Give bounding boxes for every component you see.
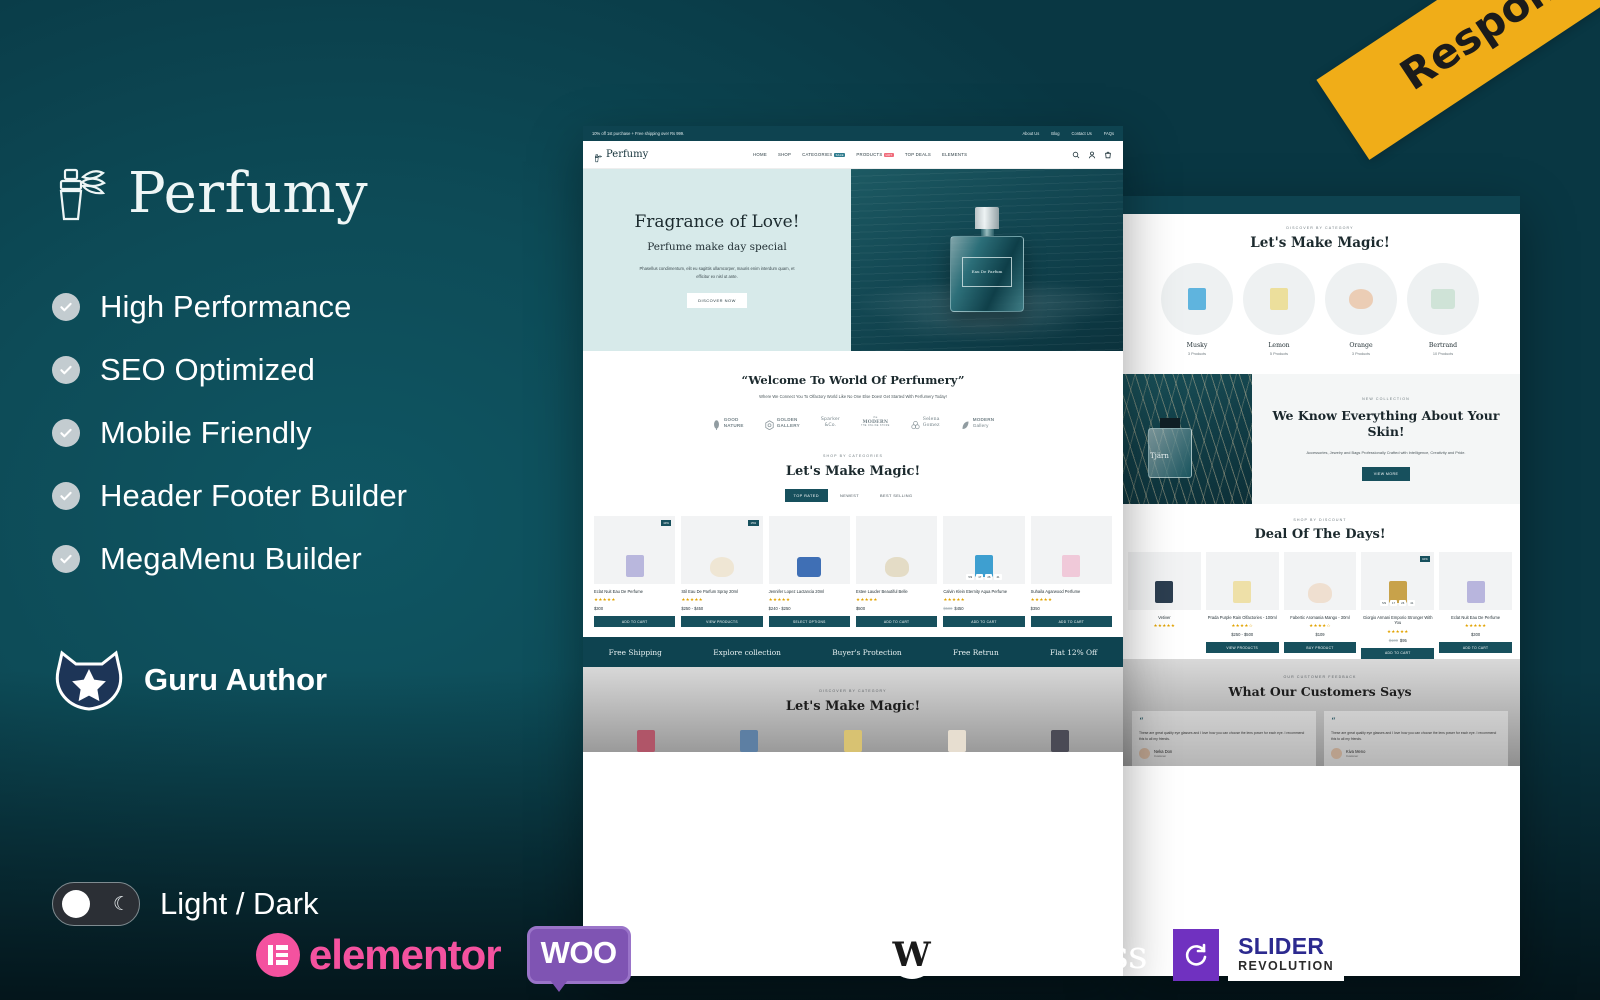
category-name: Lemon: [1243, 342, 1315, 349]
countdown-unit: 41: [1408, 600, 1415, 606]
product-card[interactable]: Prada Purple Rain Olfactories - 100ml ★★…: [1206, 552, 1279, 659]
hero-paragraph: Phasellus condimentum, elit eu sagittis …: [637, 265, 797, 281]
check-icon: [52, 545, 80, 573]
theme-toggle-row: ☾ Light / Dark: [52, 882, 319, 926]
benefit-buyers-protection: Buyer's Protection: [832, 648, 901, 657]
product-action-button[interactable]: ADD TO CART: [1361, 648, 1434, 659]
rating-stars: ★★★★☆: [1284, 623, 1357, 629]
product-card[interactable]: Jennifer Lopez Lactancia 20ml ★★★★★ $240…: [769, 516, 850, 627]
perfume-bottle-icon: [1270, 288, 1288, 310]
brand-logo-row: GOODNATURE GOLDENGALLERY Sparker&Co. the…: [583, 417, 1123, 428]
product-thumb: 10%: [594, 516, 675, 584]
elementor-logo-text: elementor: [309, 931, 501, 979]
slider-revolution-icon: [1173, 929, 1219, 981]
author-role: Customer: [1346, 754, 1365, 758]
shop-categories-section: SHOP BY CATEGORIES Let's Make Magic! TOP…: [583, 442, 1123, 508]
product-action-button[interactable]: ADD TO CART: [1031, 616, 1112, 627]
check-icon: [52, 482, 80, 510]
site-logo-text: Perfumy: [606, 149, 648, 160]
product-thumb: 5/9 17 26 41: [943, 516, 1024, 584]
bottom-discover-section: DISCOVER BY CATEGORY Let's Make Magic!: [583, 667, 1123, 752]
brand-logo: Sparker&Co.: [821, 417, 840, 428]
product-name: Eclat Nuit Eau De Perfume: [594, 589, 675, 594]
countdown-timer: 5/9 17 26 41: [1361, 600, 1434, 606]
current-price: $95: [1400, 638, 1407, 643]
menu-item-top-deals[interactable]: TOP DEALS: [905, 152, 931, 157]
menu-item-products[interactable]: PRODUCTSHOT: [856, 152, 893, 157]
wordpress-icon: W: [888, 931, 936, 979]
banner-eyebrow: NEW COLLECTION: [1362, 397, 1410, 401]
brand-logo-line1: GOLDEN: [777, 417, 800, 422]
testimonial-author: Kiva Meno Customer: [1331, 748, 1501, 759]
brand-logo-line1: Sparker: [821, 417, 840, 422]
cart-icon[interactable]: [1104, 151, 1112, 159]
product-name: Jennifer Lopez Lactancia 20ml: [769, 589, 850, 594]
discover-now-button[interactable]: DISCOVER NOW: [687, 293, 747, 308]
category-name: Orange: [1325, 342, 1397, 349]
responsive-ribbon-label: Responsive: [1391, 0, 1600, 99]
info-panel: Perfumy High Performance SEO Optimized M…: [52, 165, 552, 711]
perfume-bottle-icon: [740, 730, 758, 752]
menu-item-home[interactable]: HOME: [753, 152, 767, 157]
deals-section: SHOP BY DISCOUNT Deal Of The Days! Vetiv…: [1120, 504, 1520, 659]
section-eyebrow: DISCOVER BY CATEGORY: [583, 689, 1123, 693]
testimonial-list: “ These are great quality eye glasses an…: [1120, 699, 1520, 767]
section-eyebrow: SHOP BY DISCOUNT: [1120, 518, 1520, 522]
product-name: Prada Purple Rain Olfactories - 100ml: [1206, 615, 1279, 620]
product-thumb: [856, 516, 937, 584]
guru-author-label: Guru Author: [144, 662, 327, 698]
product-card[interactable]: 10% Eclat Nuit Eau De Perfume ★★★★★ $300…: [594, 516, 675, 627]
brand-logo-line1: Selena: [923, 417, 940, 422]
elementor-icon: [256, 933, 300, 977]
product-thumb: [1439, 552, 1512, 610]
navbar-icons: [1072, 151, 1112, 159]
product-thumb: [1128, 552, 1201, 610]
category-thumb: [1325, 263, 1397, 335]
site-logo[interactable]: Perfumy: [594, 149, 648, 160]
product-price: $250 - $450: [681, 606, 762, 611]
main-menu: HOME SHOP CATEGORIESSALE PRODUCTSHOT TOP…: [753, 152, 967, 157]
product-card[interactable]: Suhaila Agarwood Perfume ★★★★★ $350 ADD …: [1031, 516, 1112, 627]
woocommerce-logo-text: COMMERCE: [640, 934, 862, 977]
category-count: 3 Products: [1161, 352, 1233, 356]
woocommerce-logo: WOO COMMERCE: [527, 926, 862, 984]
category-thumb: [1407, 263, 1479, 335]
benefit-explore-collection: Explore collection: [713, 648, 781, 657]
brand-logo-line2: GALLERY: [777, 423, 800, 428]
banner-image: Tjärn: [1120, 374, 1252, 504]
testimonial-author: Neka Don Customer: [1139, 748, 1309, 759]
feature-label: High Performance: [100, 289, 351, 325]
countdown-unit: 26: [1399, 600, 1406, 606]
hexagon-icon: [765, 417, 774, 428]
brand-logo-line2: Gomez: [923, 423, 940, 428]
tab-best-selling[interactable]: BEST SELLING: [871, 489, 921, 502]
section-title: Let's Make Magic!: [583, 699, 1123, 714]
product-card[interactable]: Estee Lauder Beautiful Belle ★★★★★ $500 …: [856, 516, 937, 627]
product-action-button[interactable]: VIEW PRODUCTS: [1206, 642, 1279, 653]
product-name: Fabertic Aromania Mango - 30ml: [1284, 615, 1357, 620]
hero-title: Fragrance of Love!: [634, 212, 799, 232]
perfume-bottle-icon: [1349, 289, 1373, 309]
perfume-bottle-icon: [1431, 289, 1455, 309]
product-price: $500: [856, 606, 937, 611]
slider-revolution-line1: SLIDER: [1238, 935, 1334, 958]
product-thumb: [1031, 516, 1112, 584]
topbar-link-faqs[interactable]: FAQs: [1104, 131, 1114, 136]
product-thumb: [769, 516, 850, 584]
product-thumb[interactable]: [806, 730, 900, 752]
hot-badge: HOT: [884, 153, 894, 157]
feature-label: Mobile Friendly: [100, 415, 312, 451]
product-name: Suhaila Agarwood Perfume: [1031, 589, 1112, 594]
slider-revolution-logo: SLIDER REVOLUTION: [1173, 929, 1344, 981]
countdown-unit: 5/9: [966, 574, 974, 580]
check-icon: [52, 293, 80, 321]
perfume-bottle-icon: [844, 730, 862, 752]
countdown-unit: 5/9: [1380, 600, 1388, 606]
rating-stars: ★★★★★: [1439, 623, 1512, 629]
tree-icon: [712, 417, 721, 428]
product-name: Eclat Nuit Eau De Perfume: [1439, 615, 1512, 620]
category-item[interactable]: Orange 3 Products: [1325, 263, 1397, 356]
section-title: Deal Of The Days!: [1120, 527, 1520, 542]
guru-author-badge: Guru Author: [52, 649, 552, 711]
avatar: [1331, 748, 1342, 759]
wordpress-logo-text: WordPress: [945, 933, 1148, 977]
product-thumb[interactable]: [703, 730, 797, 752]
toggle-knob[interactable]: [62, 890, 90, 918]
welcome-section: “Welcome To World Of Perfumery” Where We…: [583, 351, 1123, 442]
product-filter-tabs: TOP RATED NEWEST BEST SELLING: [583, 489, 1123, 502]
banner-content: NEW COLLECTION We Know Everything About …: [1252, 374, 1520, 504]
topbar-links: About Us Blog Contact Us FAQs: [1022, 131, 1114, 136]
testimonials-section: OUR CUSTOMER FEEDBACK What Our Customers…: [1120, 659, 1520, 767]
section-title: Let's Make Magic!: [1120, 235, 1520, 251]
category-count: 3 Products: [1325, 352, 1397, 356]
product-grid: 10% Eclat Nuit Eau De Perfume ★★★★★ $300…: [583, 508, 1123, 627]
site-screenshot-left: 10% off 1st purchase + Free shipping ove…: [583, 126, 1123, 976]
testimonial-text: These are great quality eye glasses and …: [1331, 730, 1501, 743]
feature-item: MegaMenu Builder: [52, 541, 552, 577]
product-name: Giorgio Armani Emporio Stronger With You: [1361, 615, 1434, 626]
countdown-unit: 26: [985, 574, 992, 580]
quote-icon: “: [1139, 718, 1309, 726]
perfume-bottle-icon: [52, 165, 114, 223]
quote-icon: “: [1331, 718, 1501, 726]
testimonial-card: “ These are great quality eye glasses an…: [1132, 711, 1316, 767]
light-dark-toggle[interactable]: ☾: [52, 882, 140, 926]
new-collection-banner: Tjärn NEW COLLECTION We Know Everything …: [1120, 374, 1520, 504]
rating-stars: ★★★★☆: [1206, 623, 1279, 629]
testimonial-card: “ These are great quality eye glasses an…: [1324, 711, 1508, 767]
perfume-bottle-icon: [637, 730, 655, 752]
banner-title: We Know Everything About Your Skin!: [1270, 408, 1502, 441]
welcome-subtitle: Where We Connect You To Olfactory World …: [583, 394, 1123, 399]
section-title: What Our Customers Says: [1120, 684, 1520, 699]
hero-content: Fragrance of Love! Perfume make day spec…: [583, 169, 851, 351]
site-navbar: Perfumy HOME SHOP CATEGORIESSALE PRODUCT…: [583, 141, 1123, 169]
product-action-button[interactable]: ADD TO CART: [943, 616, 1024, 627]
perfume-bottle-icon: [594, 150, 603, 160]
category-circle-list: Musky 3 Products Lemon 5 Products Orange…: [1120, 263, 1520, 356]
old-price: $100: [1389, 638, 1398, 643]
product-name: Estee Lauder Beautiful Belle: [856, 589, 937, 594]
product-thumb[interactable]: [1013, 730, 1107, 752]
perfume-bottle-icon: [1062, 555, 1080, 577]
product-action-button[interactable]: VIEW PRODUCTS: [681, 616, 762, 627]
rating-stars: ★★★★★: [856, 597, 937, 603]
banner-paragraph: Accessories, Jewelry and Bags Profession…: [1307, 449, 1466, 456]
topbar-link-about[interactable]: About Us: [1022, 131, 1039, 136]
feature-item: Header Footer Builder: [52, 478, 552, 514]
site-screenshot-right: DISCOVER BY CATEGORY Let's Make Magic! M…: [1120, 196, 1520, 976]
feature-item: Mobile Friendly: [52, 415, 552, 451]
product-thumb: 10% 5/9 17 26 41: [1361, 552, 1434, 610]
product-action-button[interactable]: ADD TO CART: [1439, 642, 1512, 653]
discount-badge: 15%: [748, 520, 759, 526]
tab-newest[interactable]: NEWEST: [831, 489, 868, 502]
brand-logo: MODERNGallery: [961, 417, 995, 428]
rating-stars: ★★★★★: [681, 597, 762, 603]
rating-stars: ★★★★★: [769, 597, 850, 603]
hero-subtitle: Perfume make day special: [647, 241, 787, 253]
welcome-title: “Welcome To World Of Perfumery”: [583, 373, 1123, 387]
right-header-bar: [1120, 196, 1520, 214]
promo-text: 10% off 1st purchase + Free shipping ove…: [592, 131, 684, 136]
product-name: Stil Eau De Parfum Spray 20ml: [681, 589, 762, 594]
product-card[interactable]: Vetiver ★★★★★: [1128, 552, 1201, 659]
category-name: Musky: [1161, 342, 1233, 349]
promo-background: Responsive Perfumy High Performance: [0, 0, 1600, 1000]
section-eyebrow: DISCOVER BY CATEGORY: [1120, 226, 1520, 230]
countdown-timer: 5/9 17 26 41: [943, 574, 1024, 580]
topbar-link-contact[interactable]: Contact Us: [1072, 131, 1092, 136]
brand-logo-line2: NATURE: [724, 423, 744, 428]
moon-icon: ☾: [113, 895, 130, 914]
avatar: [1139, 748, 1150, 759]
category-item[interactable]: Lemon 5 Products: [1243, 263, 1315, 356]
brand-logo: GOLDENGALLERY: [765, 417, 800, 428]
feature-list: High Performance SEO Optimized Mobile Fr…: [52, 289, 552, 577]
product-card[interactable]: Fabertic Aromania Mango - 30ml ★★★★☆ $10…: [1284, 552, 1357, 659]
feature-item: High Performance: [52, 289, 552, 325]
brand-lockup: Perfumy: [52, 165, 552, 223]
perfume-bottle-icon: [710, 557, 734, 577]
feature-label: Header Footer Builder: [100, 478, 407, 514]
hero-image: Eau De Parfum: [851, 169, 1123, 351]
author-role: Customer: [1154, 754, 1172, 758]
right-categories-section: DISCOVER BY CATEGORY Let's Make Magic! M…: [1120, 214, 1520, 366]
discount-badge: 10%: [661, 520, 672, 526]
perfume-bottle-icon: [1051, 730, 1069, 752]
perfume-bottle-icon: [1155, 581, 1173, 603]
perfume-bottle-icon: [885, 557, 909, 577]
leaf-icon: [961, 417, 970, 428]
theme-toggle-label: Light / Dark: [160, 886, 319, 922]
benefit-free-shipping: Free Shipping: [609, 648, 662, 657]
perfume-bottle-icon: [1308, 583, 1332, 603]
category-count: 10 Products: [1407, 352, 1479, 356]
category-item[interactable]: Musky 3 Products: [1161, 263, 1233, 356]
product-card[interactable]: 15% Stil Eau De Parfum Spray 20ml ★★★★★ …: [681, 516, 762, 627]
product-price: $350: [1031, 606, 1112, 611]
product-thumb: 15%: [681, 516, 762, 584]
technology-logo-bar: elementor WOO COMMERCE W WordPress SLIDE…: [0, 926, 1600, 984]
brand-logo: GOODNATURE: [712, 417, 744, 428]
perfume-bottle-image: Eau De Parfum: [950, 207, 1024, 312]
product-thumb[interactable]: [599, 730, 693, 752]
rating-stars: ★★★★★: [1128, 623, 1201, 629]
countdown-unit: 41: [994, 574, 1001, 580]
product-price: $300: [1439, 632, 1512, 637]
product-name: Calvin Klein Eternity Aqua Perfume: [943, 589, 1024, 594]
slider-revolution-line2: REVOLUTION: [1238, 958, 1334, 976]
responsive-ribbon: Responsive: [1316, 0, 1600, 160]
countdown-unit: 17: [976, 574, 983, 580]
perfume-bottle-icon: [1233, 581, 1251, 603]
brand-logo-line1: MODERN: [973, 417, 995, 422]
wordpress-logo: W WordPress: [888, 931, 1148, 979]
feature-item: SEO Optimized: [52, 352, 552, 388]
menu-item-categories[interactable]: CATEGORIESSALE: [802, 152, 845, 157]
rating-stars: ★★★★★: [1361, 629, 1434, 635]
product-price: $100$95: [1361, 638, 1434, 643]
product-price: $500$450: [943, 606, 1024, 611]
product-action-button[interactable]: SELECT OPTIONS: [769, 616, 850, 627]
product-action-button[interactable]: ADD TO CART: [594, 616, 675, 627]
product-card[interactable]: 10% 5/9 17 26 41 Giorgio Armani Emporio …: [1361, 552, 1434, 659]
category-thumb: [1243, 263, 1315, 335]
view-more-button[interactable]: VIEW MORE: [1362, 467, 1411, 481]
rating-stars: ★★★★★: [1031, 597, 1112, 603]
product-name: Vetiver: [1128, 615, 1201, 620]
brand-name: Perfumy: [128, 166, 368, 222]
perfume-bottle-icon: [1188, 288, 1206, 310]
check-icon: [52, 356, 80, 384]
product-card[interactable]: 5/9 17 26 41 Calvin Klein Eternity Aqua …: [943, 516, 1024, 627]
old-price: $500: [943, 606, 952, 611]
section-eyebrow: OUR CUSTOMER FEEDBACK: [1120, 675, 1520, 679]
cat-star-badge-icon: [52, 649, 126, 711]
product-price: $300: [594, 606, 675, 611]
deal-product-grid: Vetiver ★★★★★ Prada Purple Rain Olfactor…: [1120, 542, 1520, 659]
menu-item-shop[interactable]: SHOP: [778, 152, 791, 157]
category-name: Bertrand: [1407, 342, 1479, 349]
benefits-strip: Free Shipping Explore collection Buyer's…: [583, 637, 1123, 667]
perfume-bottle-icon: [797, 557, 821, 577]
bottom-product-row: [583, 730, 1123, 752]
feature-label: MegaMenu Builder: [100, 541, 362, 577]
perfume-bottle-icon: [948, 730, 966, 752]
perfume-bottle-icon: [626, 555, 644, 577]
product-action-button[interactable]: BUY PRODUCT: [1284, 642, 1357, 653]
knot-icon: [911, 417, 920, 428]
section-eyebrow: SHOP BY CATEGORIES: [583, 454, 1123, 458]
category-thumb: [1161, 263, 1233, 335]
discount-badge: 10%: [1420, 556, 1431, 562]
bottle-label: Eau De Parfum: [962, 257, 1012, 287]
brand-logo-line2: &Co.: [821, 423, 840, 428]
product-action-button[interactable]: ADD TO CART: [856, 616, 937, 627]
category-count: 5 Products: [1243, 352, 1315, 356]
product-price: $240 - $250: [769, 606, 850, 611]
perfume-bottle-icon: [1467, 581, 1485, 603]
woo-mark: WOO: [527, 926, 631, 984]
current-price: $450: [954, 606, 963, 611]
product-card[interactable]: Eclat Nuit Eau De Perfume ★★★★★ $300 ADD…: [1439, 552, 1512, 659]
brand-logo: SelenaGomez: [911, 417, 940, 428]
account-icon[interactable]: [1088, 151, 1096, 159]
product-thumb: [1284, 552, 1357, 610]
rating-stars: ★★★★★: [594, 597, 675, 603]
banner-image-label: Tjärn: [1150, 452, 1169, 460]
product-price: $250 - $500: [1206, 632, 1279, 637]
sale-badge: SALE: [834, 153, 845, 157]
section-title: Let's Make Magic!: [583, 464, 1123, 479]
product-thumb: [1206, 552, 1279, 610]
search-icon[interactable]: [1072, 151, 1080, 159]
category-item[interactable]: Bertrand 10 Products: [1407, 263, 1479, 356]
benefit-free-return: Free Retrun: [953, 648, 999, 657]
feature-label: SEO Optimized: [100, 352, 315, 388]
product-price: $109: [1284, 632, 1357, 637]
topbar-link-blog[interactable]: Blog: [1051, 131, 1059, 136]
menu-item-elements[interactable]: ELEMENTS: [942, 152, 967, 157]
elementor-logo: elementor: [256, 931, 501, 979]
benefit-flat-discount: Flat 12% Off: [1050, 648, 1097, 657]
brand-logo: theMODERNTHE ONLINE STORE: [861, 417, 890, 428]
testimonial-text: These are great quality eye glasses and …: [1139, 730, 1309, 743]
tab-top-rated[interactable]: TOP RATED: [785, 489, 828, 502]
rating-stars: ★★★★★: [943, 597, 1024, 603]
check-icon: [52, 419, 80, 447]
countdown-unit: 17: [1390, 600, 1397, 606]
announcement-bar: 10% off 1st purchase + Free shipping ove…: [583, 126, 1123, 141]
hero-banner: Fragrance of Love! Perfume make day spec…: [583, 169, 1123, 351]
brand-logo-sub: THE ONLINE STORE: [861, 425, 890, 428]
brand-logo-line2: Gallery: [973, 423, 995, 428]
product-thumb[interactable]: [910, 730, 1004, 752]
